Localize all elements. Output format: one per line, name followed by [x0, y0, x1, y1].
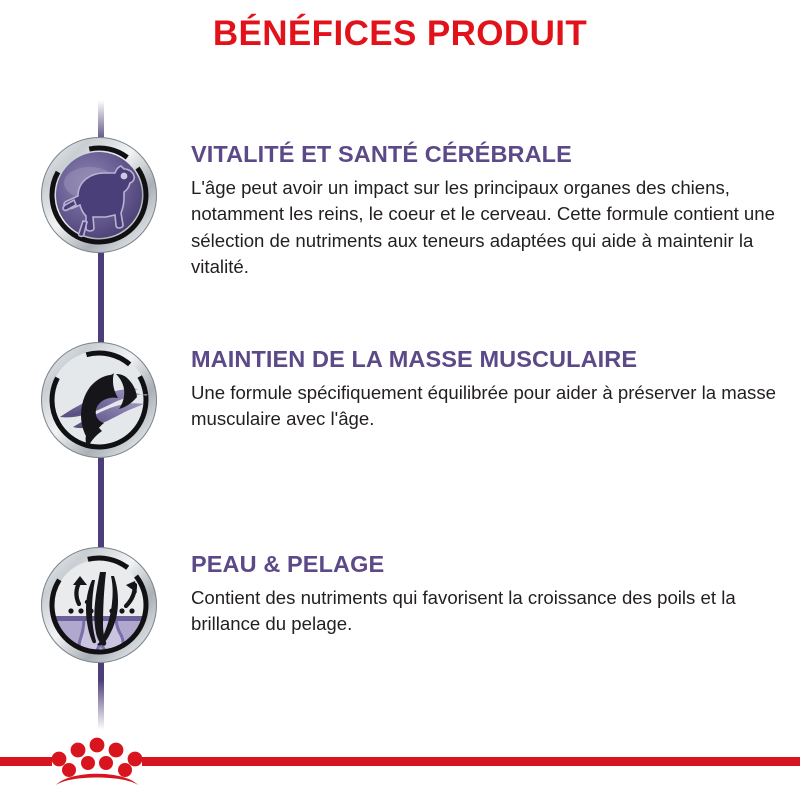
- benefit-text-block: VITALITÉ ET SANTÉ CÉRÉBRALE L'âge peut a…: [158, 136, 800, 280]
- footer-rule-left: [0, 757, 52, 766]
- benefit-heading: MAINTIEN DE LA MASSE MUSCULAIRE: [191, 347, 776, 373]
- benefit-body: L'âge peut avoir un impact sur les princ…: [191, 175, 776, 281]
- footer: [0, 710, 800, 800]
- benefit-text-block: MAINTIEN DE LA MASSE MUSCULAIRE Une form…: [158, 341, 800, 433]
- skin-coat-follicle-icon: [40, 546, 158, 664]
- benefit-item: VITALITÉ ET SANTÉ CÉRÉBRALE L'âge peut a…: [0, 136, 800, 341]
- benefit-item: MAINTIEN DE LA MASSE MUSCULAIRE Une form…: [0, 341, 800, 546]
- benefit-body: Contient des nutriments qui favorisent l…: [191, 585, 776, 638]
- benefit-text-block: PEAU & PELAGE Contient des nutriments qu…: [158, 546, 800, 638]
- benefit-body: Une formule spécifiquement équilibrée po…: [191, 380, 776, 433]
- page-title: BÉNÉFICES PRODUIT: [0, 14, 800, 54]
- benefits-list: VITALITÉ ET SANTÉ CÉRÉBRALE L'âge peut a…: [0, 136, 800, 696]
- benefit-item: PEAU & PELAGE Contient des nutriments qu…: [0, 546, 800, 696]
- footer-rule-right: [142, 757, 800, 766]
- dog-silhouette-icon: [40, 136, 158, 254]
- royal-canin-crown-logo: [50, 737, 144, 787]
- benefit-heading: VITALITÉ ET SANTÉ CÉRÉBRALE: [191, 142, 776, 168]
- benefit-heading: PEAU & PELAGE: [191, 552, 776, 578]
- muscle-fibers-icon: [40, 341, 158, 459]
